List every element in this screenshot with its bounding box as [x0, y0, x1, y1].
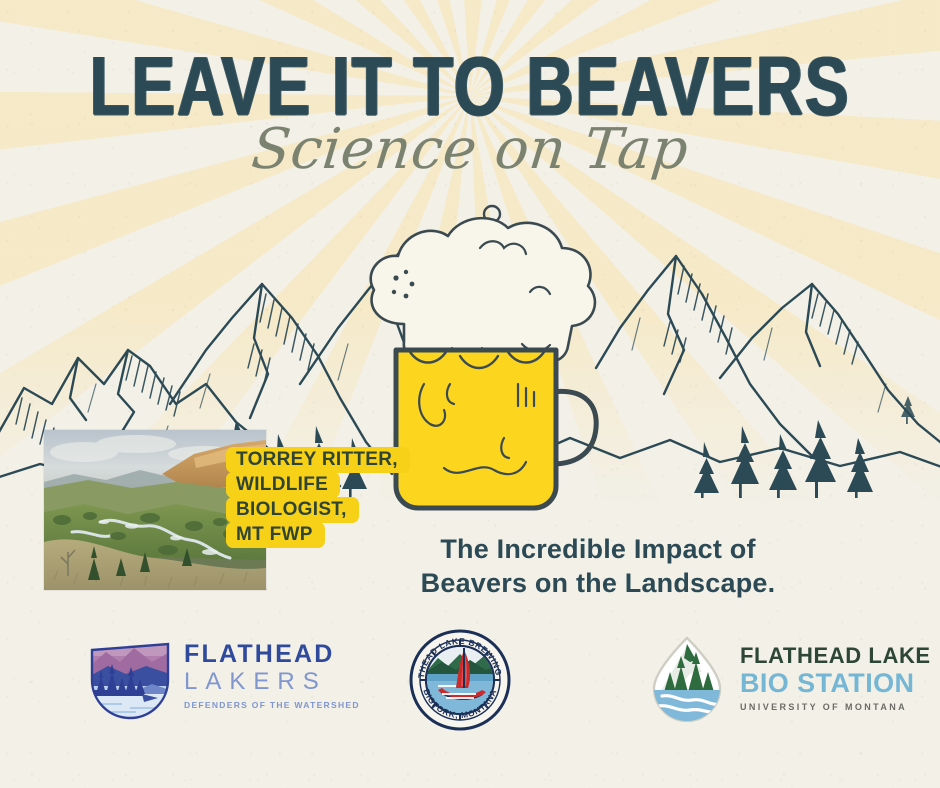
- flathead-lakers-wordmark: FLATHEAD LAKERS DEFENDERS OF THE WATERSH…: [184, 642, 360, 710]
- pine-tree-right-cluster: [694, 420, 873, 498]
- poster-canvas: TORREY RITTER, WILDLIFE BIOLOGIST, MT FW…: [0, 0, 940, 788]
- callout-line-4: MT FWP: [226, 522, 325, 548]
- sponsor-flathead-lake-bio-station: FLATHEAD LAKE BIO STATION UNIVERSITY OF …: [646, 634, 931, 722]
- bio-station-droplet-icon: [646, 634, 728, 722]
- callout-line-2: WILDLIFE: [226, 472, 340, 498]
- tagline-line-1: The Incredible Impact of: [392, 532, 804, 566]
- bio-tagline: UNIVERSITY OF MONTANA: [740, 703, 931, 712]
- lakers-tagline: DEFENDERS OF THE WATERSHED: [184, 701, 360, 710]
- bio-name-line-1: FLATHEAD LAKE: [740, 645, 931, 667]
- title-block: LEAVE IT TO BEAVERS: [0, 46, 940, 108]
- poster-tagline: The Incredible Impact of Beavers on the …: [392, 532, 804, 600]
- callout-line-3: BIOLOGIST,: [226, 497, 359, 523]
- tagline-line-2: Beavers on the Landscape.: [392, 566, 804, 600]
- poster-subtitle: Science on Tap: [0, 122, 940, 178]
- callout-line-1: TORREY RITTER,: [226, 447, 410, 473]
- mug-handle: [552, 391, 596, 464]
- lakers-name-line-1: FLATHEAD: [184, 642, 360, 667]
- speaker-callout: TORREY RITTER, WILDLIFE BIOLOGIST, MT FW…: [226, 447, 410, 547]
- lakers-name-line-2: LAKERS: [184, 670, 360, 694]
- bio-station-wordmark: FLATHEAD LAKE BIO STATION UNIVERSITY OF …: [740, 645, 931, 712]
- sponsor-flathead-lake-brewing: FLATHEAD LAKE BREWING CO. BIGFORK, MONTA…: [408, 628, 512, 732]
- sponsor-flathead-lakers: FLATHEAD LAKERS DEFENDERS OF THE WATERSH…: [86, 632, 360, 720]
- mug-body: [396, 350, 556, 508]
- flathead-lake-brewing-badge-icon: FLATHEAD LAKE BREWING CO. BIGFORK, MONTA…: [408, 628, 512, 732]
- bio-name-line-2: BIO STATION: [740, 670, 931, 697]
- flathead-lakers-badge-icon: [86, 632, 174, 720]
- subtitle-block: Science on Tap: [0, 122, 940, 178]
- sponsor-logo-row: FLATHEAD LAKERS DEFENDERS OF THE WATERSH…: [0, 628, 940, 736]
